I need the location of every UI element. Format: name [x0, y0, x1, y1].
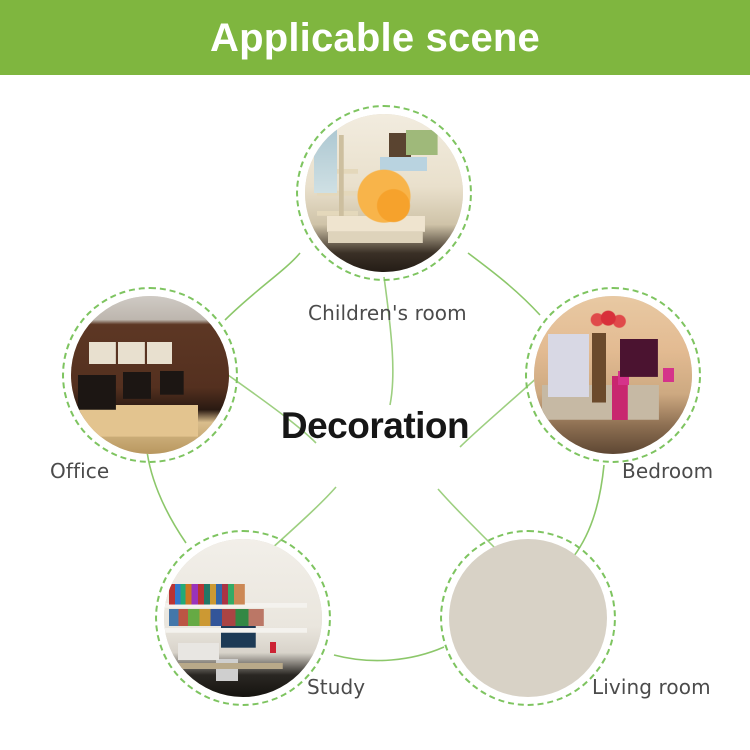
scene-label-children: Children's room	[308, 301, 467, 325]
applicable-scene-infographic: Applicable scene	[0, 0, 750, 750]
scene-label-living: Living room	[592, 675, 711, 699]
scene-node-bedroom[interactable]: Bedroom	[525, 287, 701, 463]
scene-label-study: Study	[307, 675, 365, 699]
dashed-ring-icon	[296, 105, 472, 281]
header-banner: Applicable scene	[0, 0, 750, 75]
scene-node-office[interactable]: Office	[62, 287, 238, 463]
connector-living-study	[334, 647, 444, 661]
dashed-ring-icon	[62, 287, 238, 463]
scene-diagram: Decoration Children's room Bedroom Offic…	[0, 75, 750, 750]
dashed-ring-icon	[155, 530, 331, 706]
scene-label-office: Office	[50, 459, 109, 483]
scene-node-children[interactable]: Children's room	[296, 105, 472, 281]
spoke-children-center	[384, 277, 393, 405]
dashed-ring-icon	[525, 287, 701, 463]
scene-node-study[interactable]: Study	[155, 530, 331, 706]
dashed-ring-icon	[440, 530, 616, 706]
scene-label-bedroom: Bedroom	[622, 459, 713, 483]
page-title: Applicable scene	[210, 18, 540, 58]
scene-node-living[interactable]: Living room	[440, 530, 616, 706]
